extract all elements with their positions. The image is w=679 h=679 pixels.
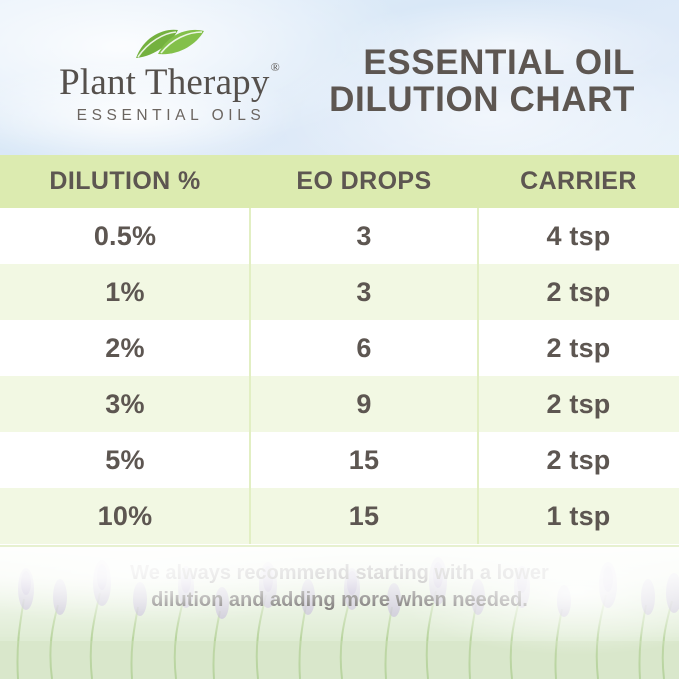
table-row: 5% 15 2 tsp [0, 432, 679, 488]
leaf-icon [38, 28, 300, 66]
column-divider-1 [249, 376, 251, 432]
column-divider-1 [249, 488, 251, 544]
page-title: ESSENTIAL OIL DILUTION CHART [329, 45, 635, 118]
cell-carrier: 2 tsp [478, 432, 679, 488]
cell-dilution: 0.5% [0, 208, 250, 264]
column-header-dilution: DILUTION % [0, 155, 250, 208]
cell-drops: 15 [250, 488, 478, 544]
column-divider-2 [477, 264, 479, 320]
footer-note-line2: dilution and adding more when needed. [151, 587, 528, 614]
cell-carrier: 2 tsp [478, 320, 679, 376]
column-header-drops: EO DROPS [250, 155, 478, 208]
page-title-line2: DILUTION CHART [329, 81, 635, 118]
cell-drops: 6 [250, 320, 478, 376]
column-divider-2 [477, 432, 479, 488]
dilution-chart-page: Plant Therapy® ESSENTIAL OILS ESSENTIAL … [0, 0, 679, 679]
footer-note-line1: We always recommend starting with a lowe… [130, 560, 549, 587]
page-title-line1: ESSENTIAL OIL [329, 45, 635, 81]
dilution-table: DILUTION % EO DROPS CARRIER 0.5% 3 4 tsp… [0, 155, 679, 544]
cell-drops: 15 [250, 432, 478, 488]
footer-note: We always recommend starting with a lowe… [0, 547, 679, 626]
cell-drops: 3 [250, 264, 478, 320]
cell-carrier: 4 tsp [478, 208, 679, 264]
cell-dilution: 3% [0, 376, 250, 432]
table-row: 0.5% 3 4 tsp [0, 208, 679, 264]
table-row: 10% 15 1 tsp [0, 488, 679, 544]
table-bottom-divider [0, 545, 679, 547]
brand-subtitle: ESSENTIAL OILS [38, 107, 300, 125]
cell-carrier: 2 tsp [478, 264, 679, 320]
column-divider-1 [249, 264, 251, 320]
column-divider-2 [477, 488, 479, 544]
cell-dilution: 1% [0, 264, 250, 320]
brand-name: Plant Therapy® [59, 64, 279, 102]
cell-dilution: 5% [0, 432, 250, 488]
column-divider-2 [477, 376, 479, 432]
column-divider-1 [249, 432, 251, 488]
brand-logo: Plant Therapy® ESSENTIAL OILS [38, 28, 300, 125]
column-divider-1 [249, 208, 251, 264]
cell-dilution: 2% [0, 320, 250, 376]
header-banner: Plant Therapy® ESSENTIAL OILS ESSENTIAL … [0, 0, 679, 155]
cell-drops: 3 [250, 208, 478, 264]
registered-mark: ® [271, 60, 280, 74]
table-row: 1% 3 2 tsp [0, 264, 679, 320]
table-row: 2% 6 2 tsp [0, 320, 679, 376]
column-divider-1 [249, 320, 251, 376]
leaf-icon-svg [134, 28, 206, 64]
column-header-carrier: CARRIER [478, 155, 679, 208]
cell-carrier: 2 tsp [478, 376, 679, 432]
cell-carrier: 1 tsp [478, 488, 679, 544]
brand-name-text: Plant Therapy [59, 62, 270, 103]
column-divider-2 [477, 320, 479, 376]
cell-drops: 9 [250, 376, 478, 432]
cell-dilution: 10% [0, 488, 250, 544]
table-header-row: DILUTION % EO DROPS CARRIER [0, 155, 679, 208]
table-row: 3% 9 2 tsp [0, 376, 679, 432]
column-divider-2 [477, 208, 479, 264]
